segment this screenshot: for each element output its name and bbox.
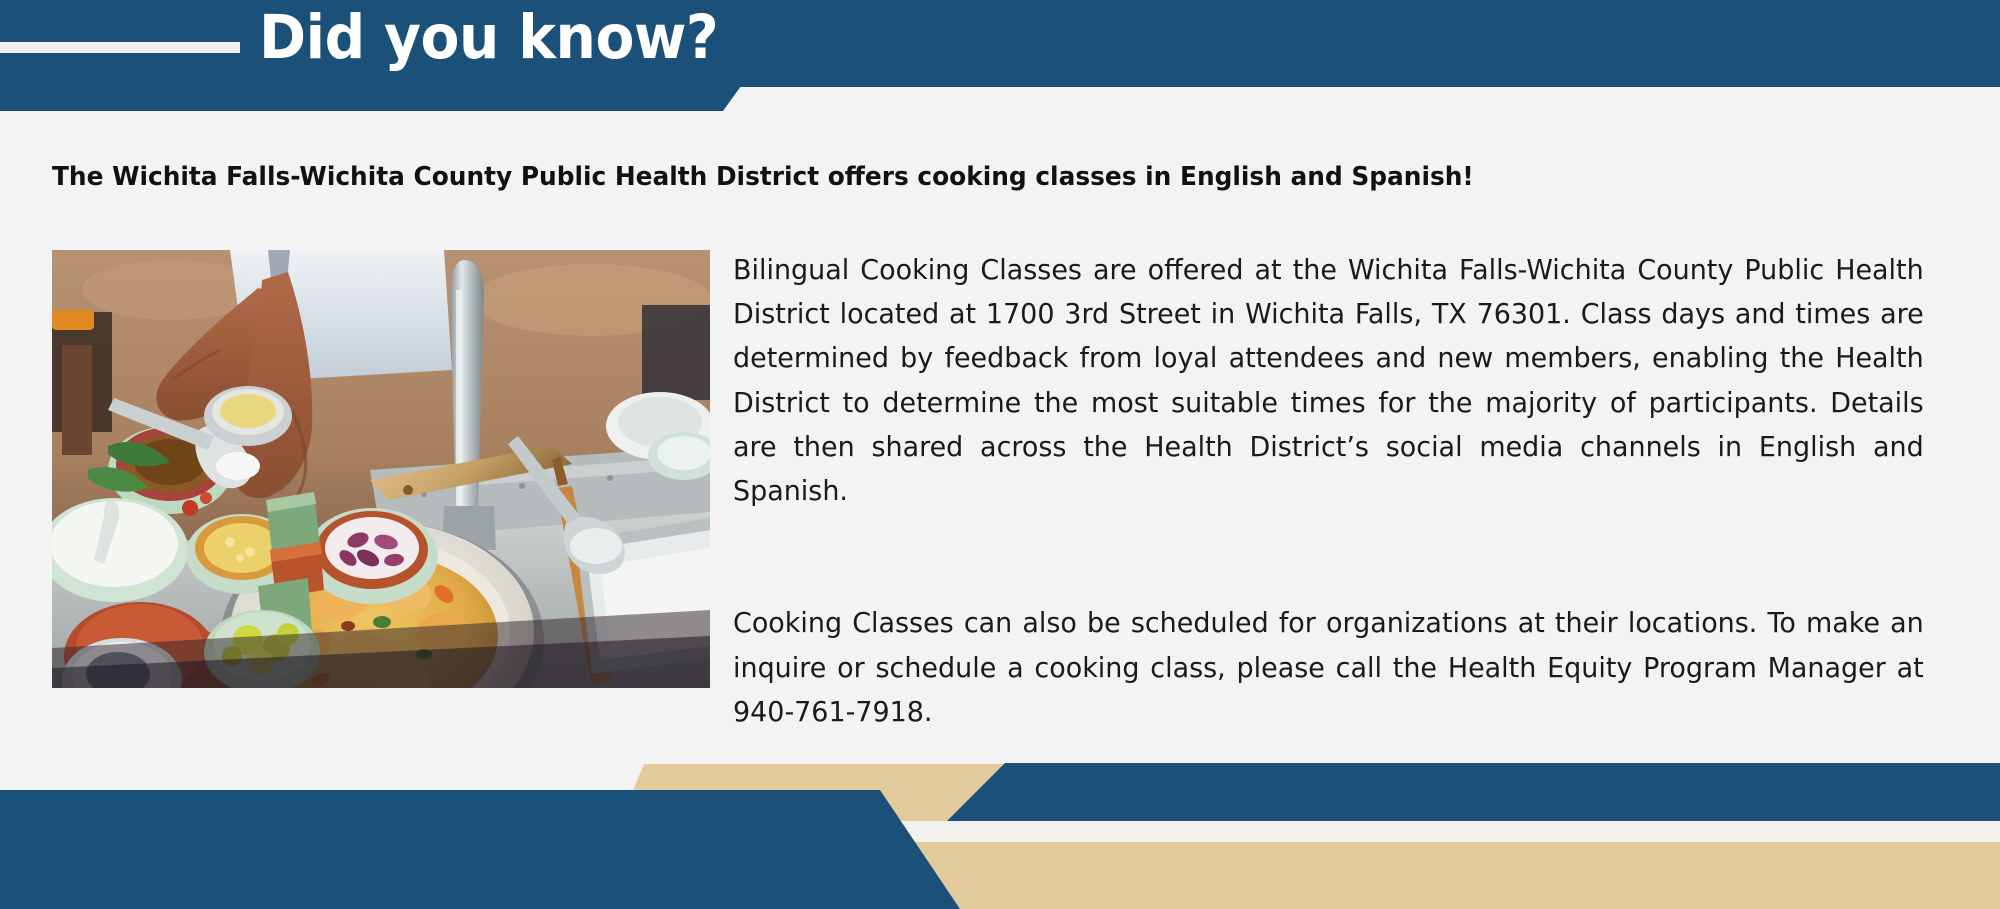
cooking-class-photo bbox=[52, 250, 710, 688]
body-copy-column: Bilingual Cooking Classes are offered at… bbox=[733, 248, 1948, 778]
body-paragraph-2: Cooking Classes can also be scheduled fo… bbox=[733, 601, 1924, 778]
cooking-photo-artwork bbox=[52, 250, 710, 688]
page-headline: The Wichita Falls-Wichita County Public … bbox=[52, 160, 1867, 194]
infographic-root: Did you know? The Wichita Falls-Wichita … bbox=[0, 0, 2000, 909]
white-separator-decoration bbox=[880, 821, 2000, 842]
header-title: Did you know? bbox=[259, 2, 718, 74]
blue-footer-decoration bbox=[0, 790, 960, 909]
body-paragraph-1: Bilingual Cooking Classes are offered at… bbox=[733, 248, 1924, 557]
header-rule-decoration bbox=[0, 42, 240, 53]
